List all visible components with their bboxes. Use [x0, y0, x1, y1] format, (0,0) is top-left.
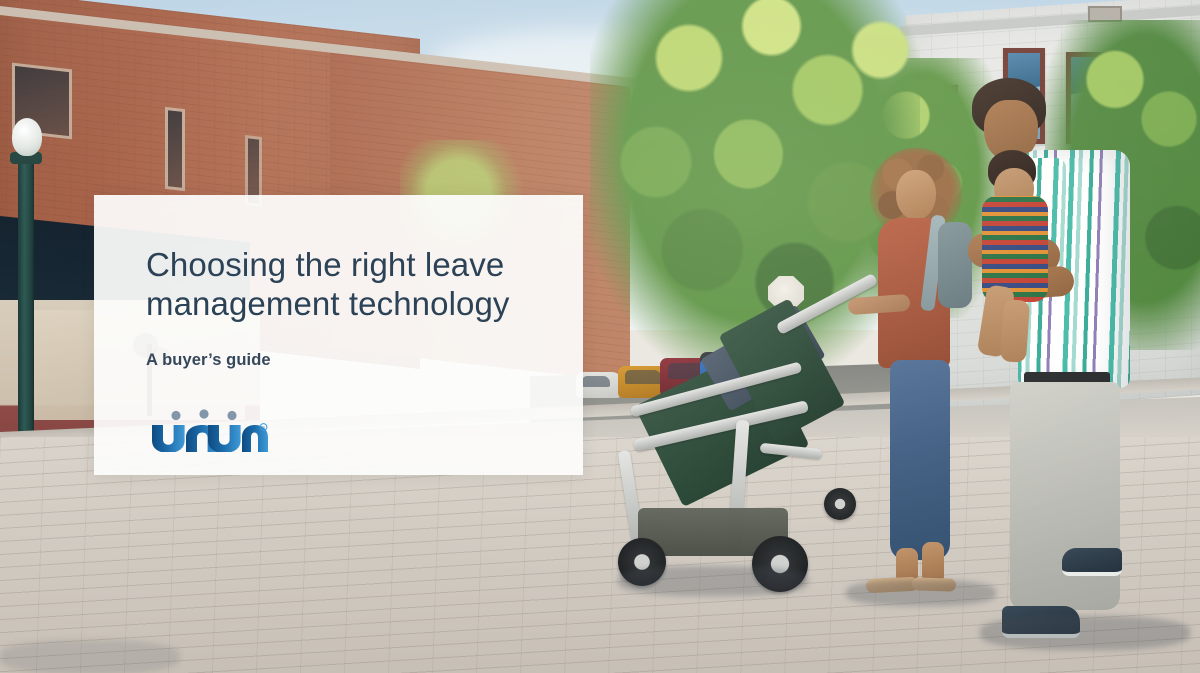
logo-letter-u: [152, 425, 185, 452]
backpack: [938, 222, 972, 308]
title-card: Choosing the right leave management tech…: [94, 195, 583, 475]
shadow: [980, 616, 1190, 650]
unum-logo-mark: R: [146, 408, 268, 452]
shadow: [618, 566, 808, 596]
shadow: [0, 640, 180, 673]
woman-face: [896, 170, 936, 220]
stroller: [612, 300, 902, 590]
logo-dot-icon: [227, 411, 236, 420]
page-title: Choosing the right leave management tech…: [146, 245, 537, 323]
shadow: [846, 580, 996, 606]
baby-leg: [1000, 299, 1030, 363]
logo-dot-icon: [199, 409, 208, 418]
stroller-wheel: [824, 488, 856, 520]
page-subtitle: A buyer’s guide: [146, 351, 537, 370]
building-window: [165, 107, 185, 191]
unum-logo: R: [146, 408, 268, 452]
logo-letter-u2: [208, 425, 241, 452]
slide-canvas: Choosing the right leave management tech…: [0, 0, 1200, 673]
street-lamp-globe: [12, 118, 42, 156]
logo-dot-icon: [171, 411, 180, 420]
sneaker: [1062, 548, 1122, 576]
